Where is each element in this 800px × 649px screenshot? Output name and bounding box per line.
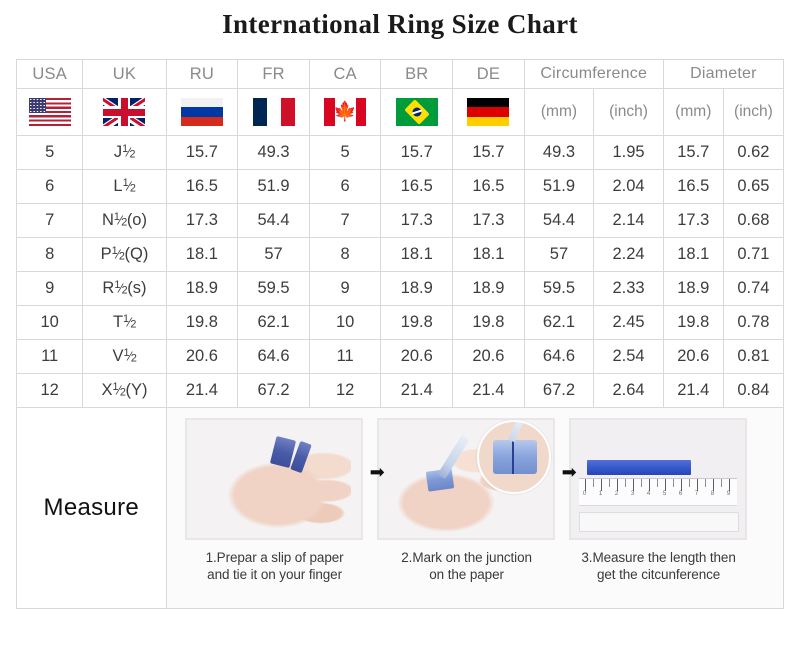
cell-circ-mm: 67.2	[524, 374, 594, 408]
step-2-photo	[377, 418, 555, 540]
table-row: 12 X1⁄2(Y) 21.4 67.2 12 21.4 21.4 67.2 2…	[17, 374, 784, 408]
cell-circ-inch: 2.45	[594, 306, 664, 340]
measure-row: Measure 1.Prepar a slip of paper and t	[17, 408, 784, 609]
flag-brazil-icon	[396, 98, 438, 126]
cell-dia-mm: 18.1	[663, 238, 723, 272]
cell-usa: 9	[17, 272, 83, 306]
cell-circ-inch: 1.95	[594, 136, 664, 170]
cell-uk: X1⁄2(Y)	[83, 374, 166, 408]
cell-usa: 10	[17, 306, 83, 340]
column-header-ru: RU	[166, 60, 238, 89]
cell-de: 18.9	[453, 272, 525, 306]
cell-circ-mm: 54.4	[524, 204, 594, 238]
arrow-right-icon: ➡	[562, 463, 577, 481]
cell-usa: 7	[17, 204, 83, 238]
cell-ca: 9	[309, 272, 381, 306]
cell-de: 20.6	[453, 340, 525, 374]
cell-ca: 6	[309, 170, 381, 204]
cell-br: 16.5	[381, 170, 453, 204]
unit-header-circumference-inch: (inch)	[594, 89, 664, 136]
cell-fr: 59.5	[238, 272, 310, 306]
step-1-caption: 1.Prepar a slip of paper and tie it on y…	[185, 549, 365, 584]
unit-header-circumference-mm: (mm)	[524, 89, 594, 136]
cell-br: 18.9	[381, 272, 453, 306]
flag-cell-de	[453, 89, 525, 136]
cell-circ-inch: 2.14	[594, 204, 664, 238]
cell-de: 17.3	[453, 204, 525, 238]
cell-uk: J1⁄2	[83, 136, 166, 170]
flag-cell-fr	[238, 89, 310, 136]
column-header-diameter: Diameter	[663, 60, 783, 89]
measure-step-3: 0 1 2 3 4 5	[569, 418, 749, 584]
cell-ru: 18.9	[166, 272, 238, 306]
measure-steps-panel: 1.Prepar a slip of paper and tie it on y…	[167, 408, 783, 608]
measure-label: Measure	[17, 408, 167, 609]
step-3-photo: 0 1 2 3 4 5	[569, 418, 747, 540]
flag-cell-uk	[83, 89, 166, 136]
cell-ca: 7	[309, 204, 381, 238]
column-header-de: DE	[453, 60, 525, 89]
cell-dia-inch: 0.62	[723, 136, 783, 170]
table-row: 7 N1⁄2(o) 17.3 54.4 7 17.3 17.3 54.4 2.1…	[17, 204, 784, 238]
cell-dia-inch: 0.71	[723, 238, 783, 272]
cell-br: 20.6	[381, 340, 453, 374]
cell-de: 19.8	[453, 306, 525, 340]
page-title: International Ring Size Chart	[0, 9, 800, 40]
column-header-usa: USA	[17, 60, 83, 89]
cell-br: 21.4	[381, 374, 453, 408]
column-header-uk: UK	[83, 60, 166, 89]
measure-step-1: 1.Prepar a slip of paper and tie it on y…	[185, 418, 365, 584]
cell-uk: R1⁄2(s)	[83, 272, 166, 306]
table-row: 6 L1⁄2 16.5 51.9 6 16.5 16.5 51.9 2.04 1…	[17, 170, 784, 204]
arrow-right-icon: ➡	[370, 463, 385, 481]
cell-fr: 54.4	[238, 204, 310, 238]
cell-dia-mm: 20.6	[663, 340, 723, 374]
table-row: 11 V1⁄2 20.6 64.6 11 20.6 20.6 64.6 2.54…	[17, 340, 784, 374]
step-3-caption: 3.Measure the length then get the citcun…	[569, 549, 749, 584]
cell-br: 18.1	[381, 238, 453, 272]
cell-ru: 16.5	[166, 170, 238, 204]
cell-uk: L1⁄2	[83, 170, 166, 204]
cell-uk: T1⁄2	[83, 306, 166, 340]
table-row: 8 P1⁄2(Q) 18.1 57 8 18.1 18.1 57 2.24 18…	[17, 238, 784, 272]
unit-header-diameter-inch: (inch)	[723, 89, 783, 136]
flag-russia-icon	[181, 98, 223, 126]
cell-ca: 5	[309, 136, 381, 170]
cell-dia-mm: 15.7	[663, 136, 723, 170]
cell-dia-inch: 0.78	[723, 306, 783, 340]
cell-dia-inch: 0.81	[723, 340, 783, 374]
cell-fr: 64.6	[238, 340, 310, 374]
table-header-row: USA UK RU FR CA BR DE Circumference Diam…	[17, 60, 784, 89]
cell-fr: 62.1	[238, 306, 310, 340]
cell-circ-mm: 49.3	[524, 136, 594, 170]
cell-ru: 18.1	[166, 238, 238, 272]
cell-circ-inch: 2.33	[594, 272, 664, 306]
cell-ru: 19.8	[166, 306, 238, 340]
cell-de: 15.7	[453, 136, 525, 170]
cell-circ-inch: 2.64	[594, 374, 664, 408]
flag-cell-ca: 🍁	[309, 89, 381, 136]
cell-usa: 12	[17, 374, 83, 408]
cell-ru: 20.6	[166, 340, 238, 374]
cell-dia-mm: 17.3	[663, 204, 723, 238]
flag-france-icon	[253, 98, 295, 126]
cell-usa: 11	[17, 340, 83, 374]
cell-dia-inch: 0.65	[723, 170, 783, 204]
cell-usa: 5	[17, 136, 83, 170]
table-row: 10 T1⁄2 19.8 62.1 10 19.8 19.8 62.1 2.45…	[17, 306, 784, 340]
cell-circ-mm: 57	[524, 238, 594, 272]
cell-circ-mm: 51.9	[524, 170, 594, 204]
table-row: 9 R1⁄2(s) 18.9 59.5 9 18.9 18.9 59.5 2.3…	[17, 272, 784, 306]
cell-de: 21.4	[453, 374, 525, 408]
cell-ca: 12	[309, 374, 381, 408]
cell-circ-inch: 2.24	[594, 238, 664, 272]
unit-header-diameter-mm: (mm)	[663, 89, 723, 136]
size-chart-container: USA UK RU FR CA BR DE Circumference Diam…	[16, 59, 784, 609]
column-header-ca: CA	[309, 60, 381, 89]
cell-dia-mm: 16.5	[663, 170, 723, 204]
column-header-br: BR	[381, 60, 453, 89]
cell-ru: 17.3	[166, 204, 238, 238]
cell-ca: 11	[309, 340, 381, 374]
cell-br: 17.3	[381, 204, 453, 238]
flag-uk-icon	[103, 98, 145, 126]
table-row: 5 J1⁄2 15.7 49.3 5 15.7 15.7 49.3 1.95 1…	[17, 136, 784, 170]
column-header-fr: FR	[238, 60, 310, 89]
cell-usa: 8	[17, 238, 83, 272]
ruler-lower-edge	[579, 512, 739, 532]
table-flag-row: 🍁 (mm) (inch) (mm) (inch)	[17, 89, 784, 136]
cell-fr: 57	[238, 238, 310, 272]
cell-dia-inch: 0.74	[723, 272, 783, 306]
measure-step-2: 2.Mark on the junction on the paper	[377, 418, 557, 584]
cell-usa: 6	[17, 170, 83, 204]
step-2-caption: 2.Mark on the junction on the paper	[377, 549, 557, 584]
paper-strip-icon	[587, 460, 691, 475]
cell-dia-mm: 18.9	[663, 272, 723, 306]
ring-size-table: USA UK RU FR CA BR DE Circumference Diam…	[16, 59, 784, 609]
ring-size-chart-page: International Ring Size Chart USA UK RU …	[0, 0, 800, 649]
measure-instructions-cell: 1.Prepar a slip of paper and tie it on y…	[166, 408, 783, 609]
cell-ru: 21.4	[166, 374, 238, 408]
ruler-icon: 0 1 2 3 4 5	[579, 478, 737, 506]
column-header-circumference: Circumference	[524, 60, 663, 89]
flag-cell-ru	[166, 89, 238, 136]
flag-cell-usa	[17, 89, 83, 136]
cell-fr: 49.3	[238, 136, 310, 170]
flag-germany-icon	[467, 98, 509, 126]
cell-dia-inch: 0.68	[723, 204, 783, 238]
cell-de: 16.5	[453, 170, 525, 204]
cell-circ-mm: 62.1	[524, 306, 594, 340]
flag-cell-br	[381, 89, 453, 136]
cell-circ-mm: 64.6	[524, 340, 594, 374]
cell-circ-mm: 59.5	[524, 272, 594, 306]
cell-ca: 10	[309, 306, 381, 340]
step-1-photo	[185, 418, 363, 540]
cell-circ-inch: 2.04	[594, 170, 664, 204]
cell-circ-inch: 2.54	[594, 340, 664, 374]
cell-br: 15.7	[381, 136, 453, 170]
cell-uk: V1⁄2	[83, 340, 166, 374]
cell-uk: N1⁄2(o)	[83, 204, 166, 238]
cell-fr: 67.2	[238, 374, 310, 408]
cell-dia-inch: 0.84	[723, 374, 783, 408]
cell-fr: 51.9	[238, 170, 310, 204]
cell-br: 19.8	[381, 306, 453, 340]
flag-canada-icon: 🍁	[324, 98, 366, 126]
cell-de: 18.1	[453, 238, 525, 272]
cell-dia-mm: 21.4	[663, 374, 723, 408]
cell-ca: 8	[309, 238, 381, 272]
cell-dia-mm: 19.8	[663, 306, 723, 340]
zoom-inset-icon	[477, 420, 551, 494]
flag-usa-icon	[29, 98, 71, 126]
cell-ru: 15.7	[166, 136, 238, 170]
cell-uk: P1⁄2(Q)	[83, 238, 166, 272]
